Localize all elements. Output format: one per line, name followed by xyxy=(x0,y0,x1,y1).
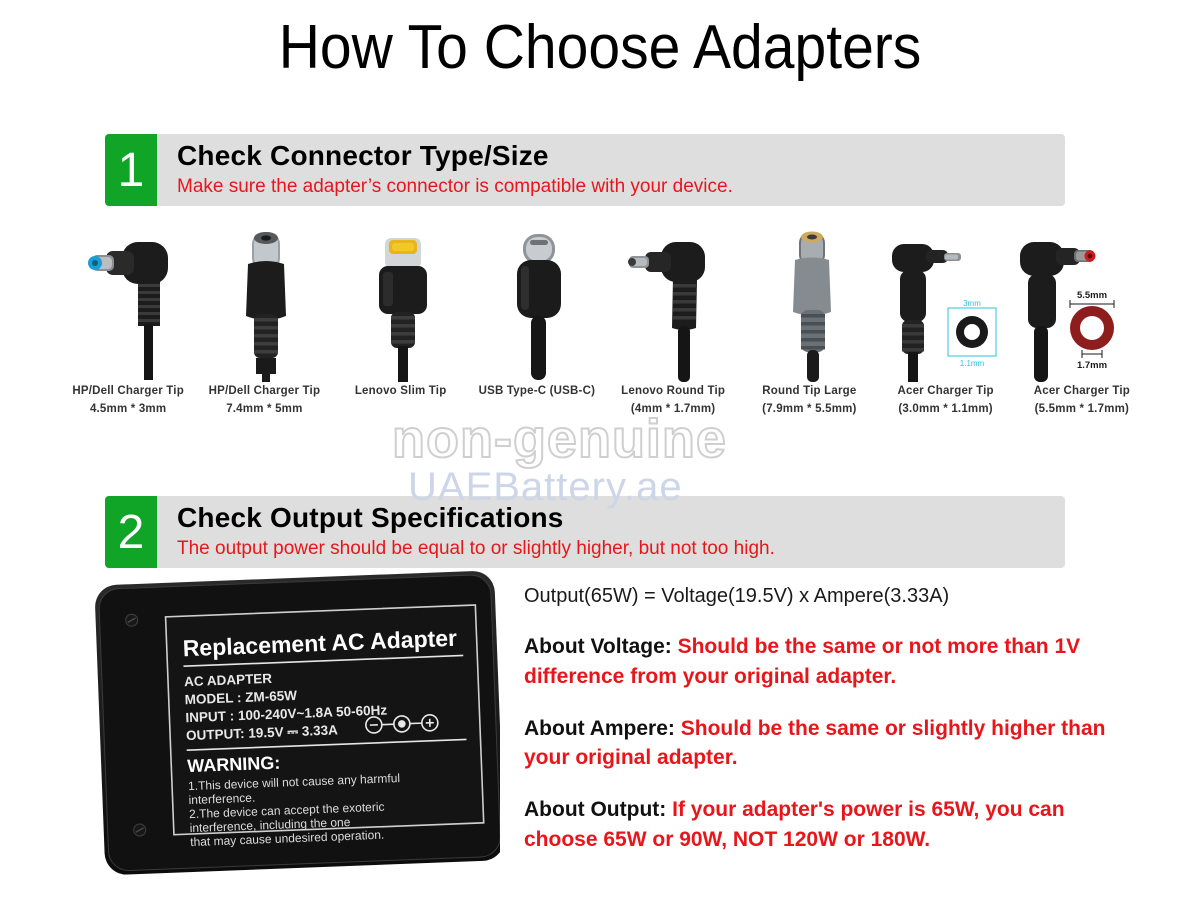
lenovo-round-tip-icon xyxy=(605,228,741,383)
connector-item-lenovo-slim[interactable]: Lenovo Slim Tip xyxy=(333,228,469,438)
step-2-heading: Check Output Specifications xyxy=(177,502,1065,534)
lenovo-slim-tip-icon xyxy=(333,228,469,383)
svg-text:5.5mm: 5.5mm xyxy=(1077,290,1107,301)
spec-lead-voltage: About Voltage: xyxy=(524,635,678,658)
connector-item-acer-small[interactable]: 3mm 1.1mm Acer Charger Tip (3.0mm * 1.1m… xyxy=(878,228,1014,438)
svg-text:1.1mm: 1.1mm xyxy=(959,359,984,368)
connector-label: USB Type-C (USB-C) xyxy=(479,383,595,401)
step-2-subheading: The output power should be equal to or s… xyxy=(177,537,1065,562)
round-tip-large-icon xyxy=(741,228,877,383)
step-2-number: 2 xyxy=(105,496,157,568)
step-1-heading: Check Connector Type/Size xyxy=(177,140,1065,172)
connector-item-usb-c[interactable]: USB Type-C (USB-C) xyxy=(469,228,605,438)
screw-icon xyxy=(125,614,137,626)
connector-label: HP/Dell Charger Tip 7.4mm * 5mm xyxy=(209,383,321,419)
spec-lead-ampere: About Ampere: xyxy=(524,717,681,740)
spec-item-output: About Output: If your adapter's power is… xyxy=(524,795,1124,855)
connector-label: Lenovo Slim Tip xyxy=(355,383,447,401)
step-2-text: Check Output Specifications The output p… xyxy=(157,496,1065,568)
connector-label: Round Tip Large (7.9mm * 5.5mm) xyxy=(762,383,856,419)
step-1-subheading: Make sure the adapter’s connector is com… xyxy=(177,175,1065,200)
step-2-bar: 2 Check Output Specifications The output… xyxy=(105,496,1065,568)
connector-item-hp-blue[interactable]: HP/Dell Charger Tip 4.5mm * 3mm xyxy=(60,228,196,438)
acer-tip-large-icon: 5.5mm 1.7mm xyxy=(1014,228,1150,383)
hp-blue-tip-icon xyxy=(60,228,196,383)
step-1-bar: 1 Check Connector Type/Size Make sure th… xyxy=(105,134,1065,206)
adapter-warning-title: WARNING: xyxy=(187,753,281,777)
connector-item-hp-barrel[interactable]: HP/Dell Charger Tip 7.4mm * 5mm xyxy=(196,228,332,438)
connector-item-round-large[interactable]: Round Tip Large (7.9mm * 5.5mm) xyxy=(741,228,877,438)
output-equation: Output(65W) = Voltage(19.5V) x Ampere(3.… xyxy=(524,585,1124,608)
adapter-photo: Replacement AC Adapter AC ADAPTER MODEL … xyxy=(90,570,500,890)
connector-item-lenovo-round[interactable]: Lenovo Round Tip (4mm * 1.7mm) xyxy=(605,228,741,438)
svg-text:1.7mm: 1.7mm xyxy=(1077,360,1107,371)
screw-icon xyxy=(133,824,145,836)
step-1-number: 1 xyxy=(105,134,157,206)
spec-item-ampere: About Ampere: Should be the same or slig… xyxy=(524,714,1124,774)
connector-label: HP/Dell Charger Tip 4.5mm * 3mm xyxy=(72,383,184,419)
svg-text:3mm: 3mm xyxy=(963,299,981,308)
spec-lead-output: About Output: xyxy=(524,798,672,821)
connector-label: Lenovo Round Tip (4mm * 1.7mm) xyxy=(621,383,725,419)
connector-label: Acer Charger Tip (5.5mm * 1.7mm) xyxy=(1034,383,1130,419)
spec-item-voltage: About Voltage: Should be the same or not… xyxy=(524,632,1124,692)
page-title: How To Choose Adapters xyxy=(48,0,1152,83)
usb-type-c-icon xyxy=(469,228,605,383)
acer-small-callout: 3mm 1.1mm xyxy=(948,299,996,368)
hp-barrel-tip-icon xyxy=(196,228,332,383)
acer-large-callout: 5.5mm 1.7mm xyxy=(1070,290,1114,371)
connector-label: Acer Charger Tip (3.0mm * 1.1mm) xyxy=(897,383,993,419)
output-spec-text: Output(65W) = Voltage(19.5V) x Ampere(3.… xyxy=(524,585,1124,877)
step-1-text: Check Connector Type/Size Make sure the … xyxy=(157,134,1065,206)
connector-gallery: HP/Dell Charger Tip 4.5mm * 3mm xyxy=(60,228,1150,438)
acer-tip-small-icon: 3mm 1.1mm xyxy=(878,228,1014,383)
connector-item-acer-large[interactable]: 5.5mm 1.7mm Acer Charger Tip (5.5mm * 1.… xyxy=(1014,228,1150,438)
